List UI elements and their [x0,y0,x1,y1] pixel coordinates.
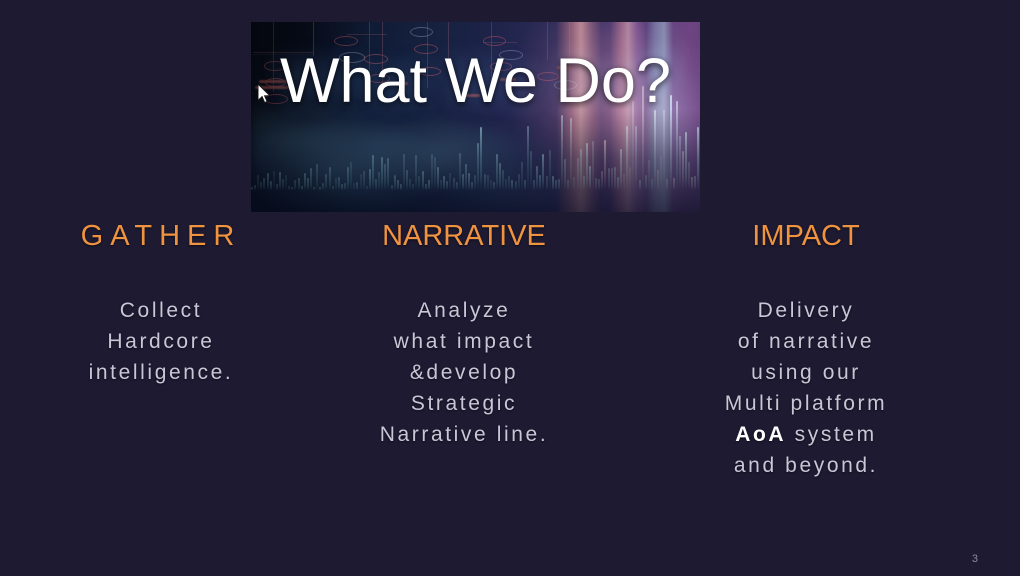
slide-canvas: What We Do? GATHER Collect Hardcore inte… [0,0,1020,576]
body-line: what impact [322,326,606,357]
column-body-gather: Collect Hardcore intelligence. [20,295,302,388]
body-line-aoa: AoA system [662,419,950,450]
aoa-emphasis: AoA [735,423,786,446]
body-line: Narrative line. [322,419,606,450]
hero-title: What We Do? [251,50,700,113]
body-line: &develop [322,357,606,388]
column-heading-narrative: NARRATIVE [322,222,606,251]
column-body-narrative: Analyze what impact &develop Strategic N… [322,295,606,450]
body-line: of narrative [662,326,950,357]
column-narrative: NARRATIVE Analyze what impact &develop S… [322,222,606,450]
column-impact: IMPACT Delivery of narrative using our M… [662,222,950,481]
body-line: Delivery [662,295,950,326]
body-line: Hardcore [20,326,302,357]
column-heading-gather: GATHER [20,222,302,251]
body-line: Collect [20,295,302,326]
aoa-rest: system [786,423,877,446]
column-heading-impact: IMPACT [662,222,950,251]
body-line: and beyond. [662,450,950,481]
column-body-impact: Delivery of narrative using our Multi pl… [662,295,950,481]
body-line: Multi platform [662,388,950,419]
column-gather: GATHER Collect Hardcore intelligence. [20,222,302,388]
body-line: Analyze [322,295,606,326]
page-number: 3 [972,553,978,565]
hero-image: What We Do? [251,22,700,212]
body-line: Strategic [322,388,606,419]
body-line: using our [662,357,950,388]
body-line: intelligence. [20,357,302,388]
